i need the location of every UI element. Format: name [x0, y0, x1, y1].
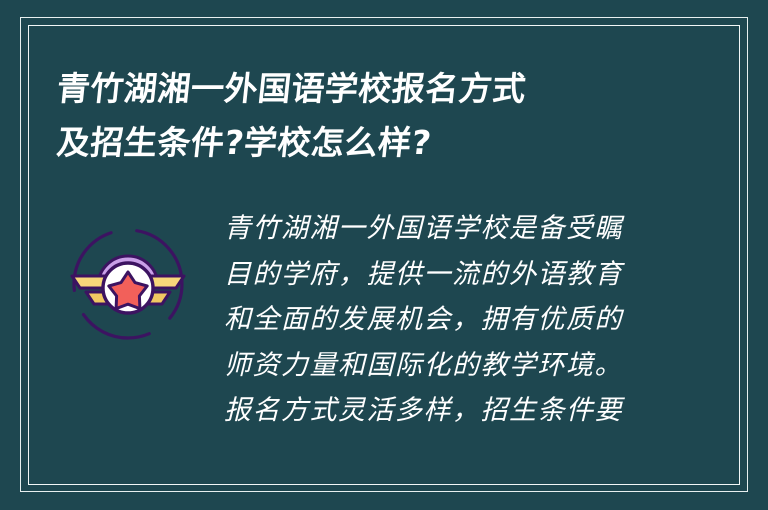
- body-line: 目的学府，提供一流的外语教育: [224, 252, 654, 298]
- page-title: 青竹湖湘一外国语学校报名方式 及招生条件?学校怎么样?: [57, 62, 697, 170]
- body-line: 青竹湖湘一外国语学校是备受瞩: [224, 206, 654, 252]
- body-line: 师资力量和国际化的教学环境。: [224, 343, 654, 389]
- body-line: 和全面的发展机会，拥有优质的: [224, 297, 654, 343]
- title-line-1: 青竹湖湘一外国语学校报名方式: [54, 62, 700, 116]
- body-paragraph: 青竹湖湘一外国语学校是备受瞩 目的学府，提供一流的外语教育 和全面的发展机会，拥…: [224, 206, 654, 434]
- title-line-2: 及招生条件?学校怎么样?: [54, 116, 700, 170]
- body-line: 报名方式灵活多样，招生条件要: [224, 388, 654, 434]
- poster-canvas: 青竹湖湘一外国语学校报名方式 及招生条件?学校怎么样? 青竹湖湘一外国语学校是备…: [0, 0, 768, 510]
- winged-star-badge-icon: [62, 218, 194, 350]
